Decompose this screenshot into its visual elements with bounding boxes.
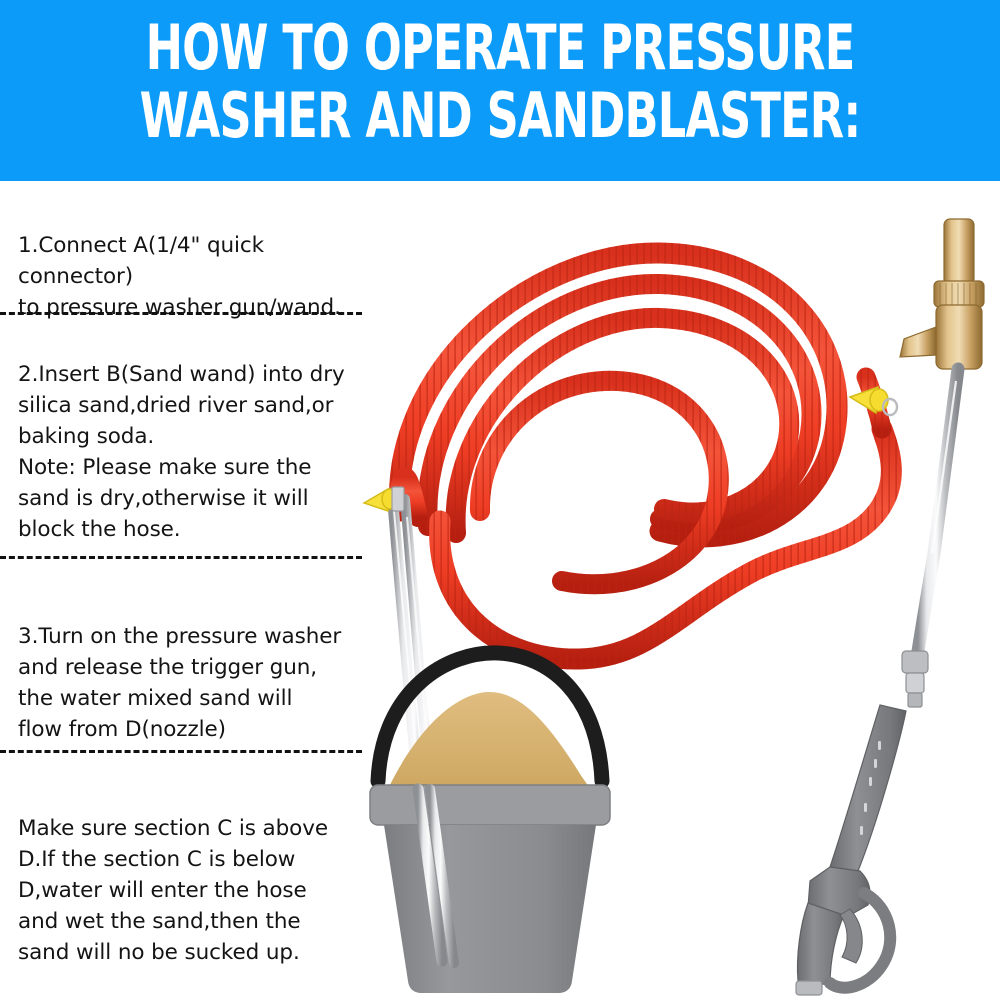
step-3-line-4: flow from D(nozzle) [18, 714, 378, 745]
note-line-5: sand will no be sucked up. [18, 937, 378, 968]
step-3-line-2: and release the trigger gun, [18, 652, 378, 683]
banner-title-line-2: WASHER AND SANDBLASTER: [100, 82, 900, 150]
step-3-line-1: 3.Turn on the pressure washer [18, 621, 378, 652]
step-1-line-1: 1.Connect A(1/4" quick connector) [18, 230, 378, 292]
step-2-line-6: block the hose. [18, 514, 378, 545]
note-line-2: D.If the section C is below [18, 844, 378, 875]
header-banner: HOW TO OPERATE PRESSURE WASHER AND SANDB… [0, 0, 1000, 181]
step-2-line-4: Note: Please make sure the [18, 452, 378, 483]
instruction-step-3: 3.Turn on the pressure washer and releas… [18, 621, 378, 745]
step-1-line-2: to pressure washer gun/wand. [18, 292, 378, 323]
trigger-gun [796, 705, 906, 995]
note-line-4: and wet the sand,then the [18, 906, 378, 937]
banner-title-line-1: HOW TO OPERATE PRESSURE [100, 14, 900, 82]
note-line-1: Make sure section C is above [18, 813, 378, 844]
step-2-line-3: baking soda. [18, 421, 378, 452]
hose-clamp-right-icon [850, 387, 897, 415]
step-2-line-1: 2.Insert B(Sand wand) into dry [18, 359, 378, 390]
step-3-line-3: the water mixed sand will [18, 683, 378, 714]
sand-bucket [370, 653, 610, 993]
note-line-3: D,water will enter the hose [18, 875, 378, 906]
hose-clamp-left-icon [364, 487, 404, 511]
instruction-step-2: 2.Insert B(Sand wand) into dry silica sa… [18, 359, 378, 545]
step-2-line-5: sand is dry,otherwise it will [18, 483, 378, 514]
brass-quick-connector [900, 219, 984, 369]
instruction-step-1: 1.Connect A(1/4" quick connector) to pre… [18, 230, 378, 323]
instruction-note: Make sure section C is above D.If the se… [18, 813, 378, 968]
bucket-body [384, 825, 596, 993]
bucket-rim [370, 785, 610, 825]
pressure-washer-lance [902, 369, 958, 707]
divider-1 [0, 312, 362, 315]
step-2-line-2: silica sand,dried river sand,or [18, 390, 378, 421]
divider-2 [0, 556, 362, 559]
product-illustration [330, 181, 1000, 997]
suction-hose [396, 253, 891, 659]
divider-3 [0, 750, 362, 753]
